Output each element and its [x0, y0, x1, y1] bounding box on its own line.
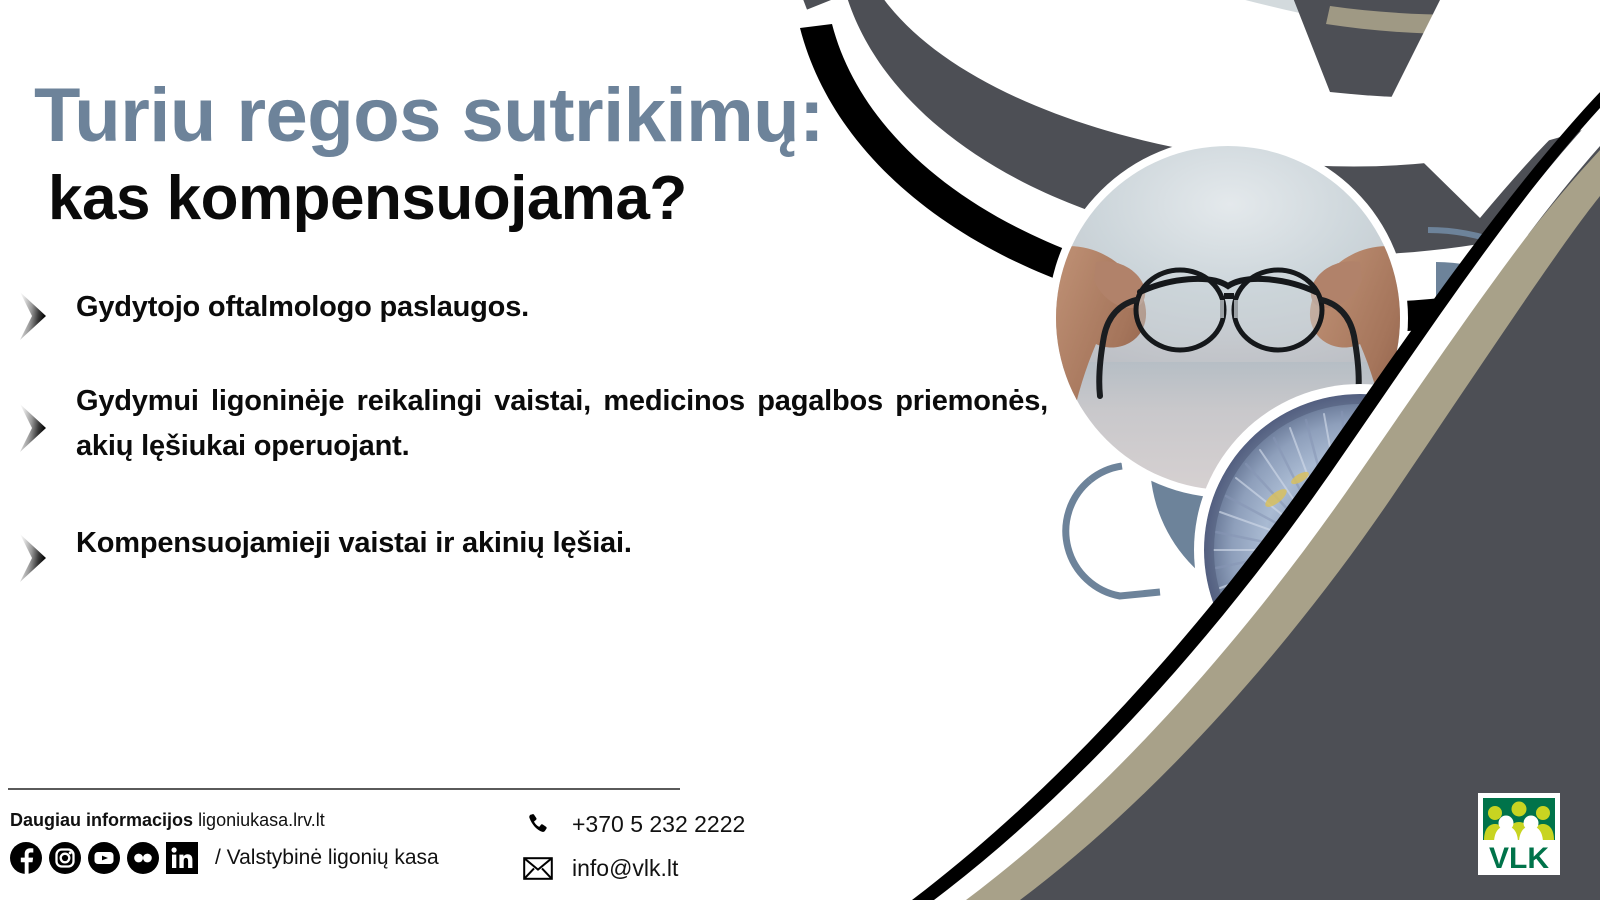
eye-photo-circle — [1194, 384, 1526, 716]
list-item: Gydymui ligoninėje reikalingi vaistai, m… — [18, 379, 1048, 477]
right-decor-rings — [1066, 230, 1600, 646]
instagram-icon[interactable] — [49, 842, 81, 874]
footer-divider — [8, 788, 680, 790]
list-item: Kompensuojamieji vaistai ir akinių lęšia… — [18, 521, 1048, 571]
chevron-right-icon — [18, 289, 56, 335]
list-item: Gydytojo oftalmologo paslaugos. — [18, 285, 1048, 335]
slide-canvas: Turiu regos sutrikimų: kas kompensuojama… — [0, 0, 1600, 900]
more-info-line: Daugiau informacijos ligoniukasa.lrv.lt — [10, 810, 325, 831]
page-title: Turiu regos sutrikimų: kas kompensuojama… — [34, 78, 974, 231]
contact-block: +370 5 232 2222 info@vlk.lt — [520, 802, 745, 890]
footer: Daugiau informacijos ligoniukasa.lrv.lt — [0, 780, 1600, 900]
linkedin-icon[interactable] — [166, 842, 198, 874]
envelope-icon — [520, 853, 556, 883]
more-info-label: Daugiau informacijos — [10, 810, 193, 830]
email-row: info@vlk.lt — [520, 846, 745, 890]
glasses-photo-circle — [1046, 138, 1410, 502]
phone-row: +370 5 232 2222 — [520, 802, 745, 846]
vlk-logo-text: VLK — [1489, 842, 1549, 872]
bullet-text: Kompensuojamieji vaistai ir akinių lęšia… — [76, 521, 1048, 566]
title-line-1: Turiu regos sutrikimų: — [34, 78, 974, 154]
facebook-icon[interactable] — [10, 842, 42, 874]
bullet-text: Gydymui ligoninėje reikalingi vaistai, m… — [76, 379, 1048, 469]
phone-number[interactable]: +370 5 232 2222 — [572, 811, 745, 838]
flickr-icon[interactable] — [127, 842, 159, 874]
social-links: / Valstybinė ligonių kasa — [10, 842, 439, 874]
website-url[interactable]: ligoniukasa.lrv.lt — [198, 810, 325, 830]
chevron-right-icon — [18, 525, 56, 571]
bullet-list: Gydytojo oftalmologo paslaugos. Gydymui … — [18, 285, 1048, 615]
phone-icon — [520, 809, 556, 839]
chevron-right-icon — [18, 431, 56, 477]
email-address[interactable]: info@vlk.lt — [572, 855, 678, 882]
social-handle: / Valstybinė ligonių kasa — [215, 846, 439, 870]
bullet-text: Gydytojo oftalmologo paslaugos. — [76, 285, 1048, 330]
youtube-icon[interactable] — [88, 842, 120, 874]
vlk-logo[interactable]: VLK — [1478, 793, 1560, 875]
title-line-2: kas kompensuojama? — [48, 166, 974, 231]
